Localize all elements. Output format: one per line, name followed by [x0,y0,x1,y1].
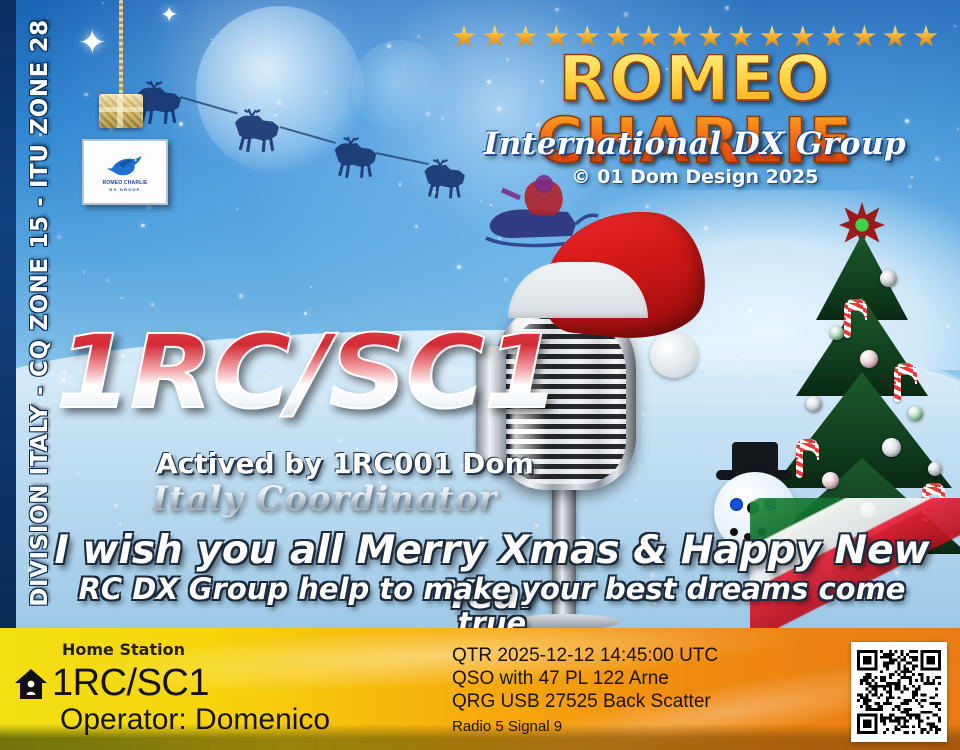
snowflake [624,12,628,16]
snowflake [457,265,461,269]
snowflake [57,235,61,239]
star-icon [883,25,907,49]
snowflake [120,297,123,300]
report-line: Radio 5 Signal 9 [452,718,832,736]
badge-line-1: ROMEO CHARLIE [102,180,147,186]
snowflake [947,192,948,193]
snowflake [555,8,559,12]
snowflake [417,35,420,38]
badge-line-2: DX GROUP [110,187,141,192]
tree-ornament [830,326,844,340]
tree-ornament [860,350,878,368]
candy-cane-icon [844,308,851,338]
snowflake [239,294,243,298]
sleigh-trace [180,96,238,114]
snowflake [748,308,752,312]
home-station-label: Home Station [62,640,185,659]
qr-code-svg [857,648,941,736]
left-edge-strip [0,0,16,632]
dove-icon [105,153,145,179]
snowflake [954,25,956,27]
snowflake [84,93,88,97]
star-icon [452,25,476,49]
snowflake [957,128,958,129]
tree-ornament [882,438,901,457]
snowflake [76,472,79,475]
sleigh-trace [280,126,336,144]
tree-ornament [880,270,897,287]
star-icon [914,25,938,49]
snowflake [725,6,729,10]
tree-ornament [928,462,942,476]
candy-cane-icon [894,372,901,402]
snowman-eye [730,498,743,511]
header-subtitle: International DX Group [452,126,938,162]
tree-ornament [822,472,839,489]
snowflake [339,439,342,442]
gift-box-icon [99,94,143,128]
reindeer [228,108,286,159]
qrg-line: QRG USB 27525 Back Scatter [452,690,832,713]
star-icon [514,25,538,49]
star-icon [483,25,507,49]
sparkle-icon: ✦ [78,26,107,60]
qr-code-icon[interactable] [851,642,947,742]
snowflake [237,311,238,312]
snowflake [151,303,154,306]
snowflake [83,271,84,272]
qso-line: QSO with 47 PL 122 Arne [452,667,832,690]
role-line: Italy Coordinator [152,479,572,519]
tree-ornament [806,396,822,412]
zone-info-vertical: DIVISION ITALY - CQ ZONE 15 - ITU ZONE 2… [27,5,53,621]
copyright-line: © 01 Dom Design 2025 [452,166,938,188]
ornament-chain [119,0,123,96]
snowflake [102,2,103,3]
qsl-card: ✦ ✦ ROMEO CHARLIE DX GROUP ROMEO CHARLIE… [0,0,960,750]
santa-hat-pompom [650,332,698,378]
snowflake [736,358,739,361]
snowflake [114,504,117,507]
romeo-charlie-logo-badge: ROMEO CHARLIE DX GROUP [82,139,168,205]
tree-ornament [908,406,923,421]
actived-by-line: Actived by 1RC001 Dom [156,447,676,480]
star-icon [852,25,876,49]
reindeer [328,136,383,185]
gift-ornament [108,0,134,128]
house-icon [14,668,48,700]
snowflake [119,523,122,526]
qso-details: QTR 2025-12-12 14:45:00 UTC QSO with 47 … [452,644,832,736]
snowflake [746,375,748,377]
snowflake [310,286,312,288]
snowflake [106,279,109,282]
home-callsign: 1RC/SC1 [52,662,209,705]
qtr-line: QTR 2025-12-12 14:45:00 UTC [452,644,832,667]
callsign-large: 1RC/SC1 [56,322,607,424]
operator-line: Operator: Domenico [60,703,330,737]
sparkle-icon: ✦ [160,4,178,26]
